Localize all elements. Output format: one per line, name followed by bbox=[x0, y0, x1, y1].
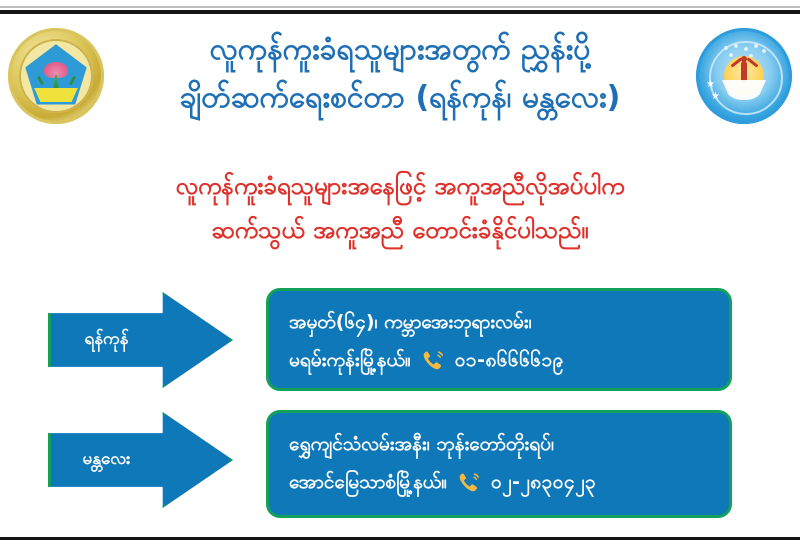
yangon-contact-row: မရမ်းကုန်းမြို့နယ်။ ၀၁-၈၆၆၆၆၁၉ bbox=[289, 341, 713, 379]
logo-star-2-icon: ★ bbox=[711, 92, 720, 102]
yangon-phone-number: ၀၁-၈၆၆၆၆၁၉ bbox=[455, 341, 564, 379]
title-line-2: ချိတ်ဆက်ရေးစင်တာ (ရန်ကုန်၊ မန္တလေး) bbox=[112, 74, 688, 122]
mandalay-address-line-1: ရွှေကျင်သံလမ်းအနီး၊ ဘုန်းတော်တိုးရပ်၊ bbox=[289, 425, 713, 463]
mandalay-contact-row: အောင်မြေသာစံမြို့နယ်။ ၀၂-၂၈၃၀၄၂၃ bbox=[289, 463, 713, 501]
mandalay-address-line-2: အောင်မြေသာစံမြို့နယ်။ bbox=[289, 463, 447, 501]
phone-ringing-icon bbox=[421, 348, 447, 372]
poster-canvas: ★ ★ လူကုန်ကူးခံရသူများအတွက် ညွှန်းပို့ ခ… bbox=[0, 0, 800, 550]
subtitle-line-2: ဆက်သွယ် အကူအညီ တောင်းခံနိုင်ပါသည်။ bbox=[40, 208, 760, 252]
logo-person-body-icon bbox=[741, 61, 747, 83]
scan-edge-line-top bbox=[0, 10, 800, 14]
yangon-address-line-2: မရမ်းကုန်းမြို့နယ်။ bbox=[289, 341, 411, 379]
logo-star-1-icon: ★ bbox=[706, 80, 715, 90]
scan-edge-line-bottom bbox=[0, 537, 800, 540]
title-line-1: လူကုန်ကူးခံရသူများအတွက် ညွှန်းပို့ bbox=[112, 26, 688, 74]
subtitle-line-1: လူကုန်ကူးခံရသူများအနေဖြင့် အကူအညီလိုအပ်ပ… bbox=[40, 164, 760, 208]
arrow-label-mandalay: မန္တလေး bbox=[51, 448, 162, 473]
page-title: လူကုန်ကူးခံရသူများအတွက် ညွှန်းပို့ ချိတ်… bbox=[112, 26, 688, 122]
government-seal-emblem bbox=[8, 28, 104, 124]
scan-edge-line-light bbox=[0, 6, 800, 8]
department-of-rehabilitation-logo: ★ ★ bbox=[696, 28, 792, 124]
mandalay-phone-number: ၀၂-၂၈၃၀၄၂၃ bbox=[491, 463, 596, 501]
subtitle-message: လူကုန်ကူးခံရသူများအနေဖြင့် အကူအညီလိုအပ်ပ… bbox=[40, 164, 760, 252]
yangon-address-line-1: အမှတ်(၆၄)၊ ကမ္ဘာအေးဘုရားလမ်း၊ bbox=[289, 303, 713, 341]
arrow-yangon: ရန်ကုန် bbox=[48, 292, 233, 388]
arrow-label-yangon: ရန်ကုန် bbox=[51, 328, 162, 353]
info-box-mandalay: ရွှေကျင်သံလမ်းအနီး၊ ဘုန်းတော်တိုးရပ်၊ အေ… bbox=[266, 410, 732, 518]
info-box-yangon: အမှတ်(၆၄)၊ ကမ္ဘာအေးဘုရားလမ်း၊ မရမ်းကုန်း… bbox=[266, 288, 732, 391]
phone-ringing-icon bbox=[457, 470, 483, 494]
arrow-mandalay: မန္တလေး bbox=[48, 412, 233, 508]
